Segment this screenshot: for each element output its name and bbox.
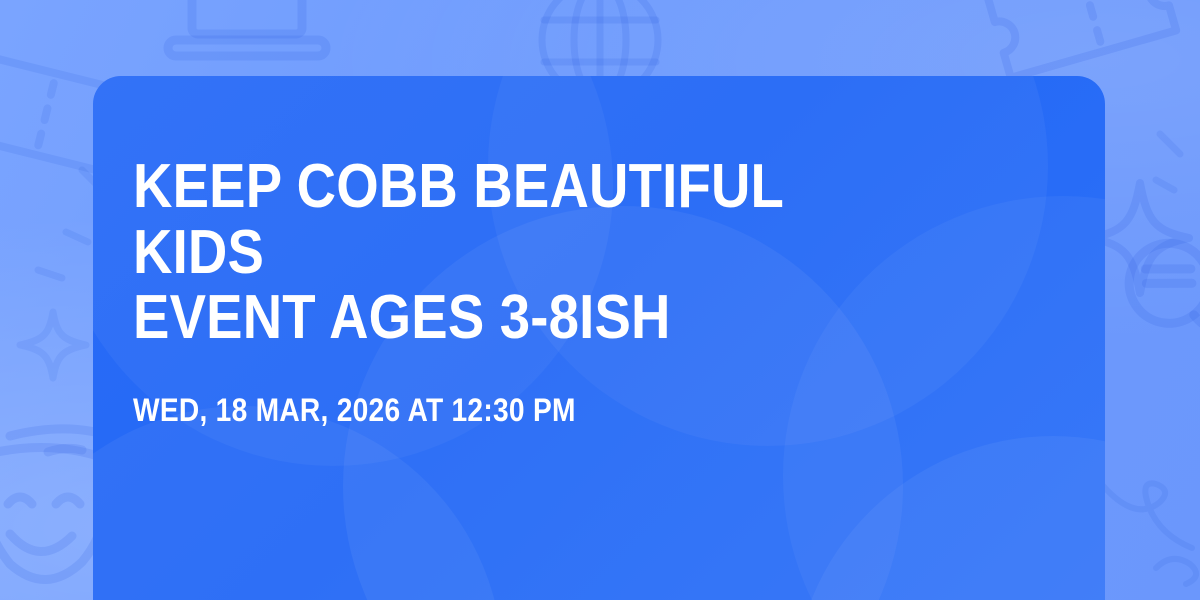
confetti-icon: [1150, 120, 1200, 210]
star-icon: [8, 300, 98, 390]
event-card: Keep Cobb Beautiful Kids Event Ages 3-8i…: [93, 76, 1105, 600]
card-decor-circle: [93, 406, 503, 600]
event-banner: Keep Cobb Beautiful Kids Event Ages 3-8i…: [0, 0, 1200, 600]
card-decor-circle: [793, 436, 1105, 600]
event-card-content: Keep Cobb Beautiful Kids Event Ages 3-8i…: [133, 154, 1065, 428]
event-date: WED, 18 MAR, 2026 AT 12:30 PM: [133, 393, 953, 428]
event-title: Keep Cobb Beautiful Kids Event Ages 3-8i…: [133, 154, 907, 351]
balloon-string-icon: [1090, 450, 1200, 600]
